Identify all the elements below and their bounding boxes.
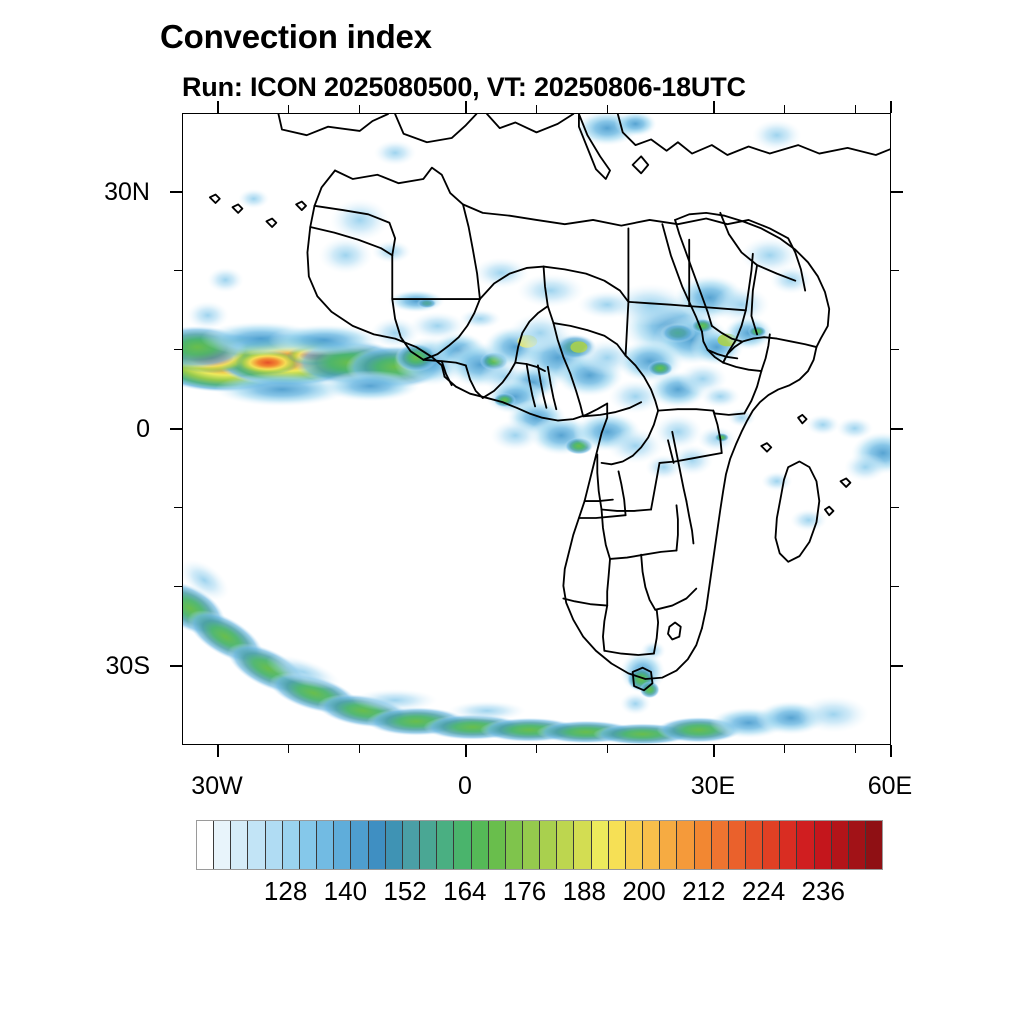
colorbar-cell	[832, 821, 849, 869]
colorbar-cell	[763, 821, 780, 869]
colorbar-cell	[866, 821, 882, 869]
colorbar-cell	[420, 821, 437, 869]
ytick-right-30n	[891, 191, 903, 193]
xtick-top-minor-10e	[536, 105, 537, 113]
page-title: Convection index	[160, 18, 432, 56]
colorbar-cell	[523, 821, 540, 869]
ytick-right-minor-10n	[891, 349, 899, 350]
xtick-top-minor-20w	[288, 105, 289, 113]
ytick-minor-20n	[174, 270, 182, 271]
colorbar-cell	[746, 821, 763, 869]
colorbar-cell	[609, 821, 626, 869]
ytick-30n	[170, 191, 182, 193]
colorbar-cell	[574, 821, 591, 869]
colorbar-cell	[592, 821, 609, 869]
colorbar-tick-label: 164	[443, 876, 486, 907]
colorbar-cell	[248, 821, 265, 869]
colorbar-cell	[231, 821, 248, 869]
xtick-minor-10e	[536, 745, 537, 753]
colorbar-tick-label: 212	[682, 876, 725, 907]
colorbar-tick-label: 140	[324, 876, 367, 907]
colorbar-cell	[386, 821, 403, 869]
xtick-60e	[890, 745, 892, 757]
colorbar-cell	[643, 821, 660, 869]
colorbar-cell	[489, 821, 506, 869]
colorbar-tick-label: 200	[622, 876, 665, 907]
colorbar-cell	[677, 821, 694, 869]
colorbar-cell	[797, 821, 814, 869]
colorbar-tick-label: 236	[802, 876, 845, 907]
ytick-right-minor-20s	[891, 586, 899, 587]
colorbar-cell	[334, 821, 351, 869]
colorbar-cell	[815, 821, 832, 869]
xtick-30e	[713, 745, 715, 757]
colorbar-cell	[369, 821, 386, 869]
ytick-right-minor-20n	[891, 270, 899, 271]
ytick-minor-10s	[174, 507, 182, 508]
xtick-top-60e	[890, 101, 892, 113]
xtick-minor-20e	[607, 745, 608, 753]
xtick-minor-40e	[784, 745, 785, 753]
ytick-right-minor-10s	[891, 507, 899, 508]
colorbar-tick-label: 176	[503, 876, 546, 907]
xtick-top-minor-50e	[855, 105, 856, 113]
page-subtitle: Run: ICON 2025080500, VT: 20250806-18UTC	[182, 72, 746, 103]
xtick-minor-10w	[359, 745, 360, 753]
axis-label-0lon: 0	[405, 772, 525, 801]
xtick-top-0	[465, 101, 467, 113]
axis-label-30n: 30N	[40, 178, 150, 207]
xtick-30w	[217, 745, 219, 757]
colorbar-tick-label: 152	[383, 876, 426, 907]
map-svg	[183, 114, 890, 744]
colorbar-tick-label: 188	[563, 876, 606, 907]
xtick-0	[465, 745, 467, 757]
axis-label-0lat: 0	[40, 415, 150, 444]
colorbar-cell	[506, 821, 523, 869]
ytick-right-0	[891, 428, 903, 430]
colorbar-cell	[403, 821, 420, 869]
xtick-top-minor-40e	[784, 105, 785, 113]
colorbar-cell	[214, 821, 231, 869]
colorbar-cell	[780, 821, 797, 869]
xtick-top-30e	[713, 101, 715, 113]
colorbar-labels: 128140152164176188200212224236	[0, 876, 1024, 916]
colorbar-cell	[626, 821, 643, 869]
colorbar-cell	[849, 821, 866, 869]
colorbar-cell	[729, 821, 746, 869]
axis-label-30e: 30E	[653, 772, 773, 801]
colorbar-cell	[266, 821, 283, 869]
colorbar-cell	[300, 821, 317, 869]
colorbar-cell	[283, 821, 300, 869]
colorbar-cell	[317, 821, 334, 869]
ytick-minor-10n	[174, 349, 182, 350]
colorbar-cell	[557, 821, 574, 869]
axis-label-30w: 30W	[157, 772, 277, 801]
colorbar-tick-label: 128	[264, 876, 307, 907]
colorbar-cell	[712, 821, 729, 869]
colorbar-cell	[437, 821, 454, 869]
colorbar-cell	[540, 821, 557, 869]
colorbar-cell	[351, 821, 368, 869]
xtick-minor-20w	[288, 745, 289, 753]
xtick-top-minor-20e	[607, 105, 608, 113]
ytick-0	[170, 428, 182, 430]
ytick-30s	[170, 665, 182, 667]
map-plot-area	[182, 113, 891, 745]
colorbar-cell	[197, 821, 214, 869]
ytick-minor-20s	[174, 586, 182, 587]
colorbar-cell	[695, 821, 712, 869]
xtick-top-minor-10w	[359, 105, 360, 113]
colorbar-cell	[454, 821, 471, 869]
colorbar-cell	[660, 821, 677, 869]
axis-label-60e: 60E	[830, 772, 950, 801]
colorbar	[196, 820, 883, 870]
xtick-minor-50e	[855, 745, 856, 753]
colorbar-cell	[472, 821, 489, 869]
ytick-right-30s	[891, 665, 903, 667]
xtick-top-30w	[217, 101, 219, 113]
colorbar-tick-label: 224	[742, 876, 785, 907]
convection-index-figure: Convection index Run: ICON 2025080500, V…	[0, 0, 1024, 1024]
axis-label-30s: 30S	[40, 652, 150, 681]
